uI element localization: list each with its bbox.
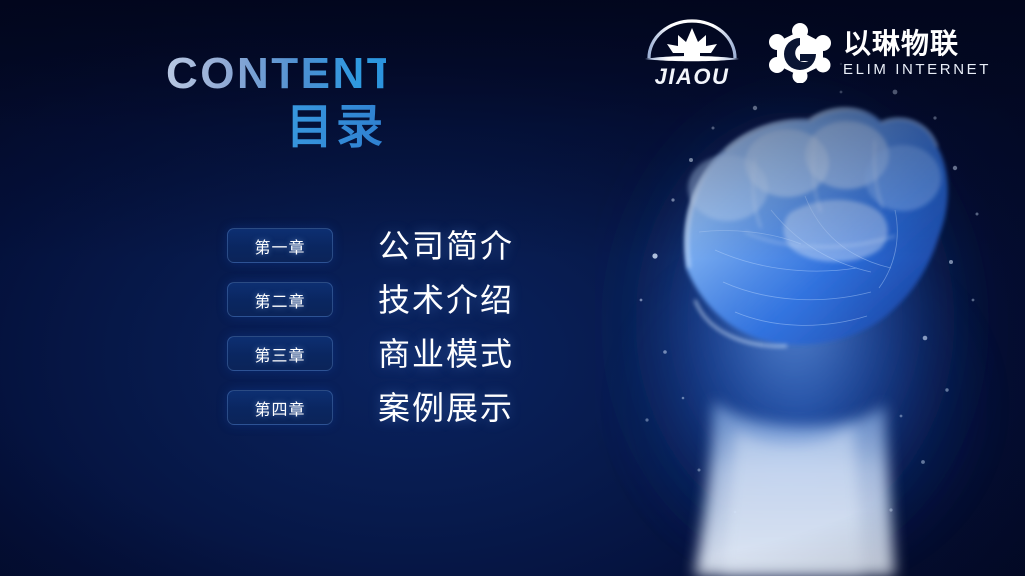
chapter-tag-3[interactable]: 第三章 xyxy=(227,336,333,371)
chapter-title-1: 公司简介 xyxy=(378,230,514,262)
sun-crown-emblem-icon xyxy=(643,18,741,64)
chapter-title-3: 商业模式 xyxy=(378,338,514,370)
toc-item-3[interactable]: 第三章 商业模式 xyxy=(227,336,514,371)
toc-item-2[interactable]: 第二章 技术介绍 xyxy=(227,282,514,317)
elim-logo: 以琳物联 ELIM INTERNET xyxy=(769,23,991,83)
chapter-tag-label: 第二章 xyxy=(254,288,305,312)
jiaou-wordmark: JIAOU xyxy=(655,66,730,88)
table-of-contents: 第一章 公司简介 第二章 技术介绍 第三章 商业模式 第四章 案例展示 xyxy=(227,228,514,425)
chapter-tag-label: 第三章 xyxy=(254,342,305,366)
elim-wordmark: 以琳物联 ELIM INTERNET xyxy=(843,29,991,76)
g-node-hexagon-icon xyxy=(769,23,831,83)
toc-item-4[interactable]: 第四章 案例展示 xyxy=(227,390,514,425)
logo-row: JIAOU 以琳物联 ELIM INTERNET xyxy=(643,18,991,88)
chapter-tag-2[interactable]: 第二章 xyxy=(227,282,333,317)
chapter-title-2: 技术介绍 xyxy=(378,284,514,316)
chapter-tag-label: 第四章 xyxy=(254,396,305,420)
chapter-title-4: 案例展示 xyxy=(378,392,514,424)
presentation-slide: JIAOU 以琳物联 ELIM INTERNET xyxy=(0,0,1025,576)
chapter-tag-label: 第一章 xyxy=(254,234,305,258)
slide-headline: CONTENT 目录 xyxy=(166,52,386,151)
elim-name-chinese: 以琳物联 xyxy=(843,29,959,58)
elim-name-english: ELIM INTERNET xyxy=(843,62,991,77)
toc-item-1[interactable]: 第一章 公司简介 xyxy=(227,228,514,263)
headline-chinese: 目录 xyxy=(166,102,386,151)
headline-english: CONTENT xyxy=(166,52,386,96)
chapter-tag-1[interactable]: 第一章 xyxy=(227,228,333,263)
jiaou-logo: JIAOU xyxy=(643,18,741,88)
chapter-tag-4[interactable]: 第四章 xyxy=(227,390,333,425)
